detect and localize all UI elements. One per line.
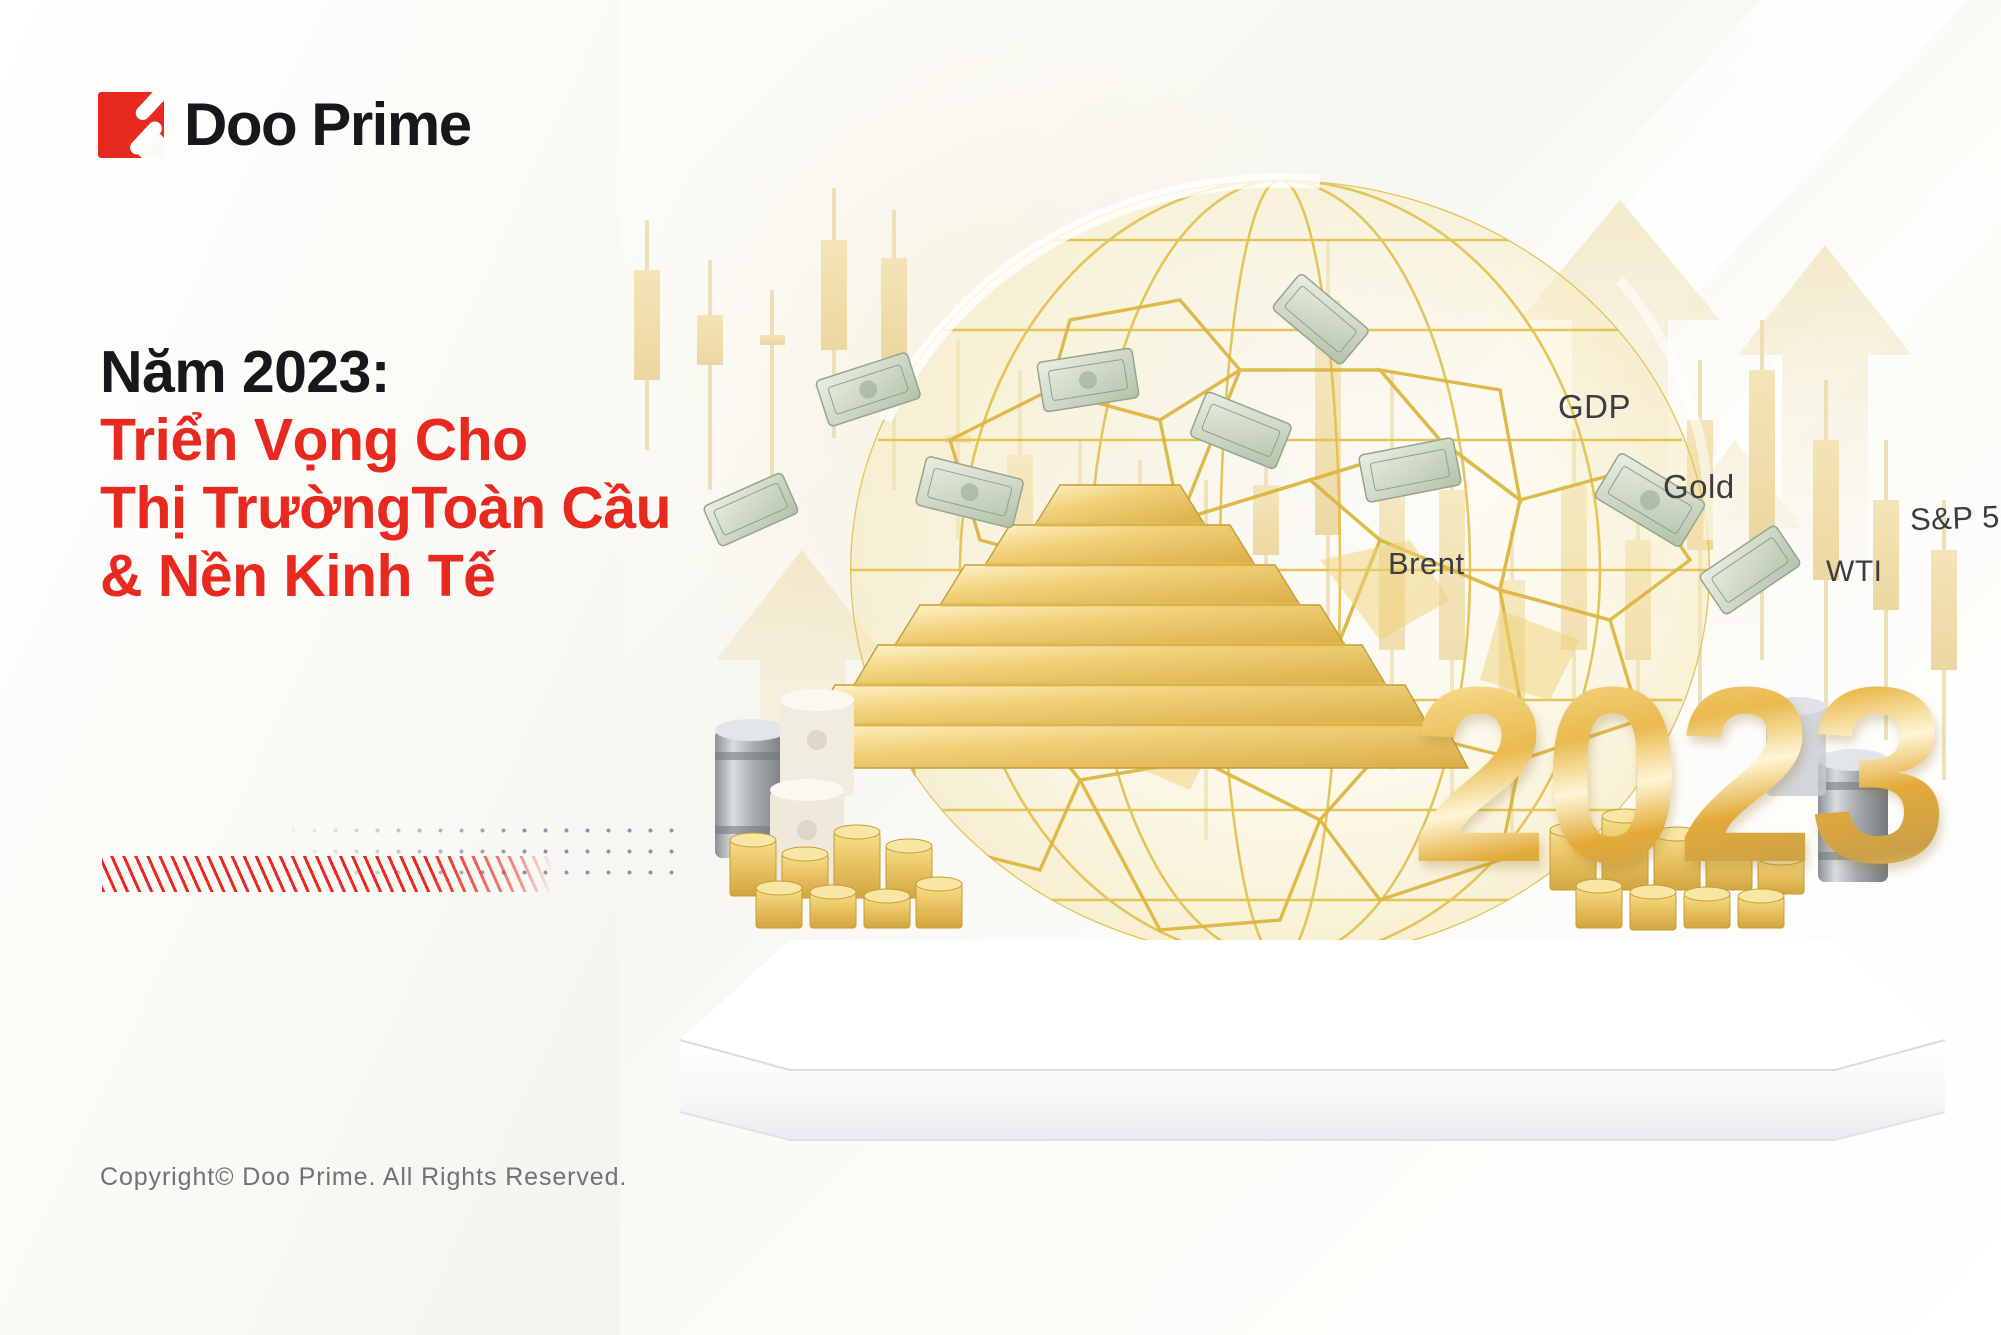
decorative-accent <box>102 820 682 910</box>
headline-block: Năm 2023: Triển Vọng Cho Thị TrườngToàn … <box>100 338 800 611</box>
coin-stack-group-left <box>730 825 962 928</box>
logo-wordmark: Doo Prime <box>184 95 471 155</box>
headline-line-3: Thị TrườngToàn Cầu <box>100 474 800 542</box>
market-label-gdp: GDP <box>1558 388 1631 426</box>
market-label-gold: Gold <box>1663 468 1735 506</box>
headline-line-2: Triển Vọng Cho <box>100 406 800 474</box>
diagonal-stripe-band <box>102 856 554 892</box>
headline-line-1: Năm 2023: <box>100 338 800 406</box>
hero-illustration: GDP Gold Brent WTI S&P 500 2023 <box>620 140 2001 1200</box>
market-label-wti: WTI <box>1826 555 1882 589</box>
background-left-tint <box>0 0 620 1335</box>
pedestal <box>680 940 1945 1140</box>
market-label-sp500: S&P 500 <box>1909 498 2001 538</box>
year-2023-graphic: 2023 <box>1410 650 2001 900</box>
doo-prime-logo-mark <box>98 92 164 158</box>
poster-canvas: GDP Gold Brent WTI S&P 500 2023 Doo Prim… <box>0 0 2001 1335</box>
market-label-brent: Brent <box>1388 546 1465 582</box>
doo-prime-logo[interactable]: Doo Prime <box>98 92 471 158</box>
copyright-text: Copyright© Doo Prime. All Rights Reserve… <box>100 1163 627 1192</box>
headline-line-4: & Nền Kinh Tế <box>100 542 800 610</box>
